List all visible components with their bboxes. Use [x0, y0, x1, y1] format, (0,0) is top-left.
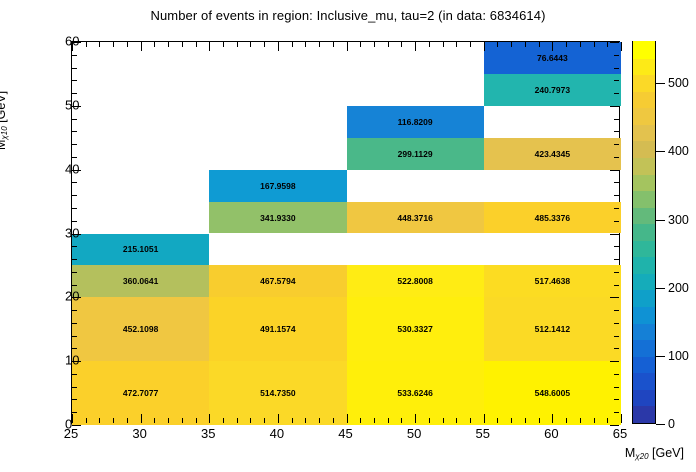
y-tick-right: [614, 93, 619, 94]
x-tick: [388, 418, 389, 423]
y-tick: [72, 182, 77, 183]
heatmap-cell[interactable]: 491.1574: [209, 297, 346, 361]
heatmap-cell[interactable]: 341.9330: [209, 202, 346, 234]
y-tick: [72, 387, 77, 388]
x-tick-top: [511, 42, 512, 47]
x-tick-label: 45: [338, 426, 352, 441]
x-tick: [264, 418, 265, 423]
heatmap-cell-value: 452.1098: [72, 324, 209, 334]
y-tick-right: [614, 68, 619, 69]
colorbar-band: [633, 405, 655, 423]
x-tick-top: [484, 42, 485, 51]
x-tick-label: 55: [476, 426, 490, 441]
x-tick-top: [456, 42, 457, 47]
x-tick: [127, 418, 128, 423]
heatmap-cell-value: 514.7350: [209, 388, 346, 398]
colorbar-band: [633, 124, 655, 142]
heatmap-cell[interactable]: 299.1129: [347, 138, 484, 170]
heatmap-cell-value: 548.6005: [484, 388, 621, 398]
y-tick: [72, 323, 77, 324]
y-tick-right: [614, 208, 619, 209]
x-tick: [443, 418, 444, 423]
x-tick: [429, 418, 430, 423]
x-tick-top: [305, 42, 306, 47]
colorbar-band: [633, 240, 655, 258]
x-tick-top: [580, 42, 581, 47]
x-tick-top: [237, 42, 238, 47]
x-tick-top: [292, 42, 293, 47]
heatmap-cell[interactable]: 423.4345: [484, 138, 621, 170]
heatmap-cell-value: 341.9330: [209, 213, 346, 223]
x-tick-label: 50: [407, 426, 421, 441]
heatmap-cell-value: 448.3716: [347, 213, 484, 223]
y-tick: [72, 285, 77, 286]
x-tick-top: [360, 42, 361, 47]
colorbar-band: [633, 190, 655, 208]
x-tick-top: [99, 42, 100, 47]
y-tick-right: [614, 310, 619, 311]
y-tick: [72, 144, 77, 145]
x-tick: [250, 418, 251, 423]
colorbar-tick-label: 300: [668, 213, 689, 227]
x-tick: [237, 418, 238, 423]
heatmap-cell[interactable]: 448.3716: [347, 202, 484, 234]
heatmap-cell[interactable]: 452.1098: [72, 297, 209, 361]
x-tick: [552, 414, 553, 423]
colorbar-tick-label: 200: [668, 281, 689, 295]
x-tick: [72, 414, 73, 423]
x-tick-top: [401, 42, 402, 47]
y-tick-right: [614, 387, 619, 388]
x-tick: [333, 418, 334, 423]
x-tick: [305, 418, 306, 423]
heatmap-cell-value: 167.9598: [209, 181, 346, 191]
y-axis-title-unit: [GeV]: [0, 91, 8, 126]
y-tick: [72, 246, 77, 247]
y-tick-right: [610, 106, 619, 107]
x-tick-top: [594, 42, 595, 47]
y-tick-right: [610, 297, 619, 298]
colorbar-tick-label: 100: [668, 349, 689, 363]
y-tick-right: [614, 348, 619, 349]
heatmap-cell[interactable]: 522.8008: [347, 265, 484, 297]
heatmap-cell-value: 116.8209: [347, 117, 484, 127]
x-tick-label: 60: [544, 426, 558, 441]
heatmap-cell-value: 530.3327: [347, 324, 484, 334]
colorbar-band: [633, 41, 655, 59]
heatmap-cell-value: 485.3376: [484, 213, 621, 223]
y-tick-right: [610, 361, 619, 362]
heatmap-cell[interactable]: 467.5794: [209, 265, 346, 297]
y-tick: [72, 412, 77, 413]
y-tick: [72, 310, 77, 311]
colorbar-band: [633, 107, 655, 125]
x-tick: [470, 418, 471, 423]
x-tick-top: [374, 42, 375, 47]
colorbar-band: [633, 256, 655, 274]
y-tick: [72, 195, 77, 196]
heatmap-cell[interactable]: 360.0641: [72, 265, 209, 297]
colorbar-band: [633, 273, 655, 291]
x-tick-top: [86, 42, 87, 47]
x-tick-top: [621, 42, 622, 51]
x-tick-top: [168, 42, 169, 47]
colorbar-band: [633, 323, 655, 341]
colorbar-band: [633, 91, 655, 109]
x-tick: [401, 418, 402, 423]
x-tick: [168, 418, 169, 423]
x-tick-top: [154, 42, 155, 47]
x-tick: [415, 414, 416, 423]
x-tick-top: [182, 42, 183, 47]
heatmap-cell-value: 76.6443: [484, 53, 621, 63]
page-title: Number of events in region: Inclusive_mu…: [0, 8, 696, 23]
colorbar-band: [633, 339, 655, 357]
y-tick-right: [610, 234, 619, 235]
y-axis-title: Mχ10 [GeV]: [0, 91, 9, 150]
x-tick: [209, 414, 210, 423]
colorbar-band: [633, 290, 655, 308]
heatmap-plot-area[interactable]: 472.7077452.1098360.0641215.1051514.7350…: [71, 41, 620, 424]
x-tick: [566, 418, 567, 423]
colorbar-band: [633, 372, 655, 390]
heatmap-cell-value: 522.8008: [347, 276, 484, 286]
colorbar-band: [633, 157, 655, 175]
heatmap-cell[interactable]: 530.3327: [347, 297, 484, 361]
y-tick: [72, 68, 77, 69]
x-tick-label: 40: [270, 426, 284, 441]
x-tick-top: [415, 42, 416, 51]
x-tick: [99, 418, 100, 423]
y-tick-right: [614, 336, 619, 337]
x-tick: [113, 418, 114, 423]
heatmap-cell[interactable]: 167.9598: [209, 170, 346, 202]
x-tick: [621, 414, 622, 423]
x-tick-top: [497, 42, 498, 47]
y-tick-right: [614, 195, 619, 196]
x-tick: [154, 418, 155, 423]
x-tick-top: [607, 42, 608, 47]
x-tick-top: [113, 42, 114, 47]
heatmap-cell-value: 215.1051: [72, 244, 209, 254]
y-tick: [72, 55, 77, 56]
x-tick: [278, 414, 279, 423]
x-tick-top: [347, 42, 348, 51]
y-tick: [72, 348, 77, 349]
colorbar-band: [633, 306, 655, 324]
x-tick-top: [223, 42, 224, 47]
y-tick: [72, 221, 77, 222]
x-tick: [580, 418, 581, 423]
y-tick-right: [614, 246, 619, 247]
colorbar-band: [633, 223, 655, 241]
x-tick-top: [196, 42, 197, 47]
x-tick: [374, 418, 375, 423]
colorbar-band: [633, 140, 655, 158]
x-tick: [539, 418, 540, 423]
y-tick: [72, 336, 77, 337]
colorbar-tick: [656, 83, 665, 84]
y-tick-right: [614, 259, 619, 260]
x-tick-label: 65: [613, 426, 627, 441]
heatmap-cell-value: 533.6246: [347, 388, 484, 398]
heatmap-cell[interactable]: 116.8209: [347, 106, 484, 138]
heatmap-cell-value: 472.7077: [72, 388, 209, 398]
y-axis-title-sub: χ10: [0, 126, 9, 139]
y-tick-right: [614, 285, 619, 286]
x-tick-top: [319, 42, 320, 47]
colorbar-band: [633, 174, 655, 192]
x-tick: [141, 414, 142, 423]
colorbar-tick-label: 0: [668, 417, 675, 431]
colorbar-tick: [656, 288, 665, 289]
heatmap-cell-value: 299.1129: [347, 149, 484, 159]
x-tick: [484, 414, 485, 423]
y-tick: [72, 272, 77, 273]
x-tick-label: 35: [201, 426, 215, 441]
y-axis-title-main: M: [0, 140, 8, 150]
x-tick: [182, 418, 183, 423]
colorbar-band: [633, 74, 655, 92]
x-tick-top: [470, 42, 471, 47]
y-tick-right: [614, 399, 619, 400]
x-axis-title: Mχ20 [GeV]: [625, 446, 684, 461]
x-tick: [511, 418, 512, 423]
x-axis-title-main: M: [625, 446, 635, 460]
x-tick-top: [525, 42, 526, 47]
x-tick: [196, 418, 197, 423]
x-tick-top: [250, 42, 251, 47]
x-tick: [292, 418, 293, 423]
y-tick: [72, 157, 77, 158]
y-tick-right: [614, 144, 619, 145]
heatmap-cell[interactable]: 512.1412: [484, 297, 621, 361]
colorbar-band: [633, 58, 655, 76]
colorbar-band: [633, 389, 655, 407]
heatmap-cell-value: 360.0641: [72, 276, 209, 286]
y-tick: [72, 93, 77, 94]
x-tick: [86, 418, 87, 423]
y-tick: [72, 131, 77, 132]
x-tick: [525, 418, 526, 423]
x-tick-top: [429, 42, 430, 47]
y-tick-right: [610, 42, 619, 43]
x-tick: [594, 418, 595, 423]
heatmap-cell[interactable]: 485.3376: [484, 202, 621, 234]
colorbar-tick: [656, 356, 665, 357]
x-tick-top: [443, 42, 444, 47]
x-tick-top: [566, 42, 567, 47]
y-tick-right: [614, 374, 619, 375]
x-tick: [497, 418, 498, 423]
root-canvas: Number of events in region: Inclusive_mu…: [0, 0, 696, 472]
x-tick: [347, 414, 348, 423]
y-tick-right: [614, 55, 619, 56]
y-tick: [72, 119, 77, 120]
x-tick: [607, 418, 608, 423]
y-tick-right: [610, 170, 619, 171]
x-axis-title-unit: [GeV]: [649, 446, 684, 460]
y-tick: [72, 259, 77, 260]
y-tick: [72, 80, 77, 81]
x-tick-top: [209, 42, 210, 51]
y-tick-right: [614, 157, 619, 158]
heatmap-cell[interactable]: 240.7973: [484, 74, 621, 106]
x-tick-label: 30: [132, 426, 146, 441]
x-tick-top: [552, 42, 553, 51]
heatmap-cell[interactable]: 517.4638: [484, 265, 621, 297]
heatmap-cell-value: 240.7973: [484, 85, 621, 95]
colorbar-band: [633, 207, 655, 225]
x-tick: [319, 418, 320, 423]
y-tick-right: [614, 221, 619, 222]
y-tick-right: [614, 119, 619, 120]
y-tick-right: [614, 272, 619, 273]
x-tick: [360, 418, 361, 423]
colorbar-tick-label: 400: [668, 144, 689, 158]
heatmap-cell-value: 512.1412: [484, 324, 621, 334]
y-tick-right: [614, 182, 619, 183]
x-tick: [223, 418, 224, 423]
x-tick: [456, 418, 457, 423]
x-tick-top: [141, 42, 142, 51]
colorbar-band: [633, 356, 655, 374]
colorbar-tick: [656, 220, 665, 221]
x-tick-top: [278, 42, 279, 51]
heatmap-cell-value: 423.4345: [484, 149, 621, 159]
heatmap-cell[interactable]: 215.1051: [72, 234, 209, 266]
heatmap-cell-value: 517.4638: [484, 276, 621, 286]
y-tick-right: [614, 131, 619, 132]
heatmap-cell-value: 467.5794: [209, 276, 346, 286]
x-tick-top: [127, 42, 128, 47]
y-tick-right: [614, 323, 619, 324]
y-tick: [72, 208, 77, 209]
x-tick-top: [333, 42, 334, 47]
heatmap-cell-value: 491.1574: [209, 324, 346, 334]
x-tick-top: [539, 42, 540, 47]
colorbar-tick-label: 500: [668, 76, 689, 90]
y-tick-right: [614, 80, 619, 81]
x-tick-top: [264, 42, 265, 47]
y-tick: [72, 374, 77, 375]
colorbar-tick: [656, 424, 665, 425]
colorbar-tick: [656, 151, 665, 152]
y-tick-right: [614, 412, 619, 413]
x-tick-top: [388, 42, 389, 47]
colorbar: [632, 41, 656, 424]
y-tick: [72, 399, 77, 400]
x-axis-title-sub: χ20: [635, 452, 648, 461]
